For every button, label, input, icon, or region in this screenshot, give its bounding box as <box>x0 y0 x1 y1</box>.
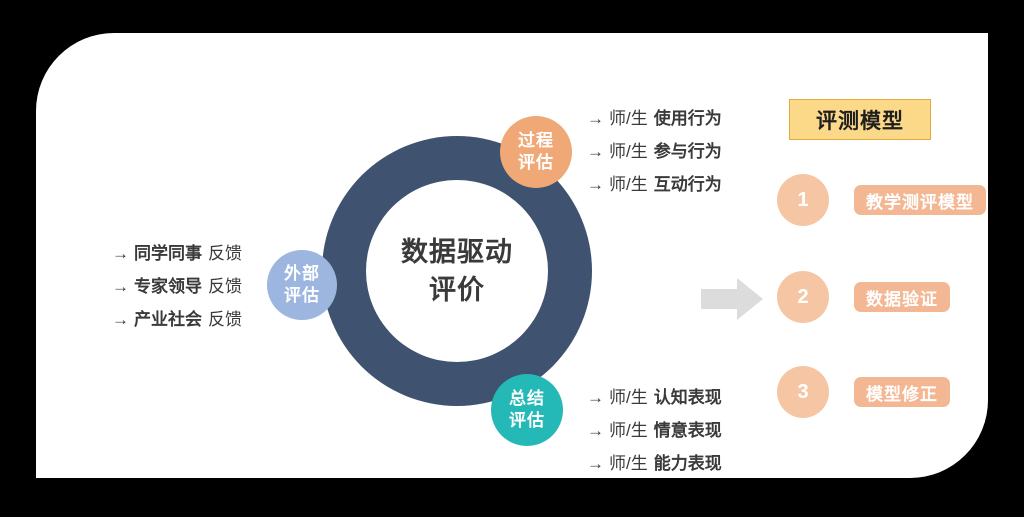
list-predicate: 互动行为 <box>654 176 722 193</box>
list-subject: 专家领导 <box>134 278 202 295</box>
list-subject: 产业社会 <box>134 311 202 328</box>
arrow-icon: → <box>112 278 129 295</box>
white-card-panel: 数据驱动 评价 过程 评估 外部 评估 总结 评估 → 师/生 使用行为 <box>36 33 988 478</box>
bubble-process-evaluation[interactable]: 过程 评估 <box>500 116 572 188</box>
donut-center: 数据驱动 评价 <box>366 180 548 362</box>
step-number-circle: 3 <box>777 366 829 418</box>
list-subject: 师/生 <box>609 143 648 160</box>
list-predicate: 参与行为 <box>654 143 722 160</box>
list-item: → 师/生 认知表现 <box>587 389 722 422</box>
list-item: → 师/生 能力表现 <box>587 455 722 488</box>
list-item: → 师/生 情意表现 <box>587 422 722 455</box>
list-item: → 师/生 互动行为 <box>587 176 722 209</box>
arrow-icon: → <box>587 422 604 439</box>
right-arrow-icon <box>701 278 763 320</box>
bubble-summary-line2: 评估 <box>509 410 545 432</box>
list-predicate: 能力表现 <box>654 455 722 472</box>
list-predicate: 反馈 <box>208 278 242 295</box>
bubble-external-line2: 评估 <box>284 285 320 307</box>
step-number-circle: 2 <box>777 271 829 323</box>
bubble-summary-line1: 总结 <box>509 388 545 410</box>
arrow-icon: → <box>587 389 604 406</box>
step-item-2[interactable]: 2 数据验证 <box>777 271 950 323</box>
list-subject: 同学同事 <box>134 245 202 262</box>
step-label-pill[interactable]: 数据验证 <box>854 282 950 312</box>
list-process-evaluation: → 师/生 使用行为 → 师/生 参与行为 → 师/生 互动行为 <box>587 110 722 209</box>
list-item: → 师/生 参与行为 <box>587 143 722 176</box>
list-predicate: 情意表现 <box>654 422 722 439</box>
panel-title-box: 评测模型 <box>789 99 931 140</box>
list-subject: 师/生 <box>609 176 648 193</box>
list-subject: 师/生 <box>609 422 648 439</box>
bubble-process-line2: 评估 <box>518 152 554 174</box>
arrow-icon: → <box>587 110 604 127</box>
list-item: → 产业社会 反馈 <box>112 311 242 344</box>
bubble-external-evaluation[interactable]: 外部 评估 <box>267 250 337 320</box>
arrow-icon: → <box>587 455 604 472</box>
step-item-3[interactable]: 3 模型修正 <box>777 366 950 418</box>
list-item: → 专家领导 反馈 <box>112 278 242 311</box>
list-subject: 师/生 <box>609 389 648 406</box>
slide-canvas: 数据驱动 评价 过程 评估 外部 评估 总结 评估 → 师/生 使用行为 <box>0 0 1024 517</box>
list-predicate: 反馈 <box>208 245 242 262</box>
list-subject: 师/生 <box>609 455 648 472</box>
arrow-icon: → <box>587 143 604 160</box>
panel-title-text: 评测模型 <box>816 105 904 135</box>
bubble-external-line1: 外部 <box>284 263 320 285</box>
list-external-evaluation: → 同学同事 反馈 → 专家领导 反馈 → 产业社会 反馈 <box>112 245 242 344</box>
list-subject: 师/生 <box>609 110 648 127</box>
list-summary-evaluation: → 师/生 认知表现 → 师/生 情意表现 → 师/生 能力表现 <box>587 389 722 488</box>
step-number-circle: 1 <box>777 174 829 226</box>
center-title-line1: 数据驱动 <box>401 233 513 271</box>
list-predicate: 认知表现 <box>654 389 722 406</box>
step-item-1[interactable]: 1 教学测评模型 <box>777 174 986 226</box>
arrow-icon: → <box>112 245 129 262</box>
bubble-summary-evaluation[interactable]: 总结 评估 <box>491 374 563 446</box>
center-title-line2: 评价 <box>429 271 485 309</box>
list-predicate: 使用行为 <box>654 110 722 127</box>
step-label-pill[interactable]: 模型修正 <box>854 377 950 407</box>
list-predicate: 反馈 <box>208 311 242 328</box>
step-label-pill[interactable]: 教学测评模型 <box>854 185 986 215</box>
arrow-icon: → <box>112 311 129 328</box>
list-item: → 同学同事 反馈 <box>112 245 242 278</box>
arrow-icon: → <box>587 176 604 193</box>
list-item: → 师/生 使用行为 <box>587 110 722 143</box>
bubble-process-line1: 过程 <box>518 130 554 152</box>
